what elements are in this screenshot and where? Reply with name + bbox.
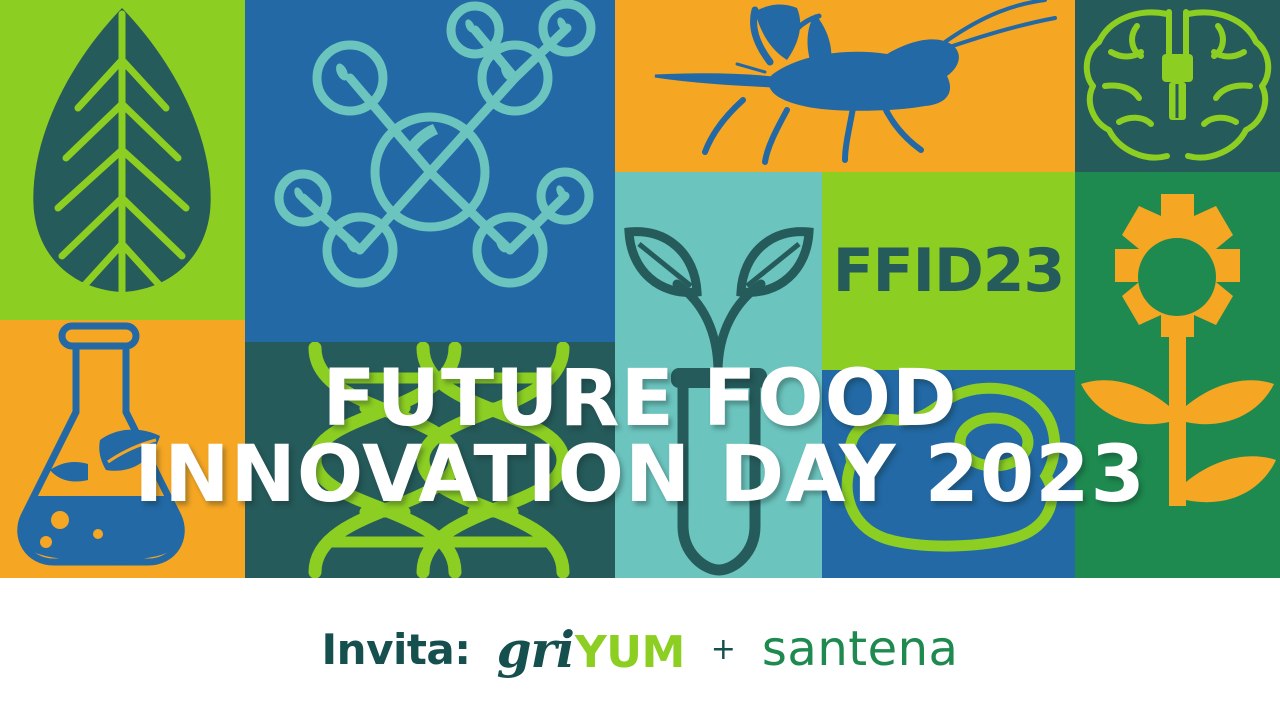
test-tube-plant-icon [615,172,822,578]
tile-brain [1075,0,1280,172]
tile-flask [0,320,245,578]
poster-canvas: FFID23 FUTURE FOOD INNOVATION DAY 2023 I… [0,0,1280,720]
cricket-icon [615,0,1075,172]
invita-label: Invita: [322,625,471,674]
logo-separator: + [711,632,736,667]
logo-griyum: griYUM [497,620,685,679]
logo-santena: santena [762,621,959,677]
logo-griyum-gri: gri [497,620,574,679]
dna-helix-icon [245,342,615,578]
tile-test-tube [615,172,822,578]
tile-molecule [245,0,615,342]
tile-ffid-badge [822,172,1075,370]
brain-plug-icon [1075,0,1280,172]
tile-cricket [615,0,1075,172]
flask-leaf-icon [0,320,245,578]
mosaic-grid: FFID23 [0,0,1280,578]
tile-cultured-meat [822,370,1075,578]
sponsor-footer: Invita: griYUM + santena [0,578,1280,720]
meat-cell-icon [822,370,1075,578]
molecule-icon [245,0,615,342]
gear-flower-icon [1075,172,1280,578]
tile-gear-flower [1075,172,1280,578]
logo-griyum-yum: YUM [575,627,685,678]
tile-leaf [0,0,245,320]
tile-dna [245,342,615,578]
leaf-icon [0,0,245,320]
